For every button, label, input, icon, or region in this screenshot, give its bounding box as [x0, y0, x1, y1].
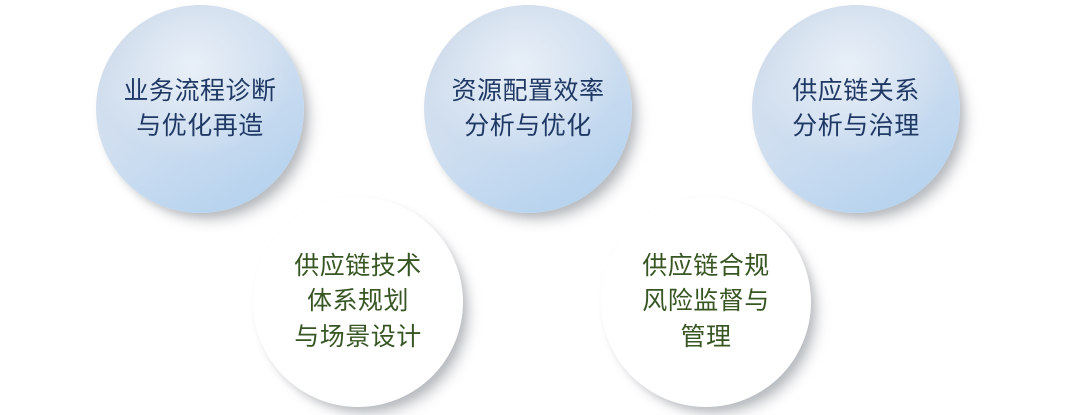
- bubble-business-process-diagnosis[interactable]: 业务流程诊断 与优化再造: [96, 5, 304, 213]
- bubble-supply-chain-relationship-governance[interactable]: 供应链关系 分析与治理: [752, 5, 960, 213]
- bubble-label: 业务流程诊断 与优化再造: [117, 74, 282, 145]
- bubble-supply-chain-technology-planning[interactable]: 供应链技术 体系规划 与场景设计: [253, 197, 463, 407]
- bubble-label: 供应链合规 风险监督与 管理: [636, 249, 776, 356]
- bubble-supply-chain-compliance-risk-management[interactable]: 供应链合规 风险监督与 管理: [601, 197, 811, 407]
- bubble-label: 资源配置效率 分析与优化: [445, 74, 610, 145]
- bubble-resource-allocation-efficiency[interactable]: 资源配置效率 分析与优化: [424, 5, 632, 213]
- diagram-canvas: 业务流程诊断 与优化再造 资源配置效率 分析与优化 供应链关系 分析与治理 供应…: [0, 0, 1071, 415]
- bubble-label: 供应链关系 分析与治理: [786, 74, 926, 145]
- bubble-label: 供应链技术 体系规划 与场景设计: [288, 249, 428, 356]
